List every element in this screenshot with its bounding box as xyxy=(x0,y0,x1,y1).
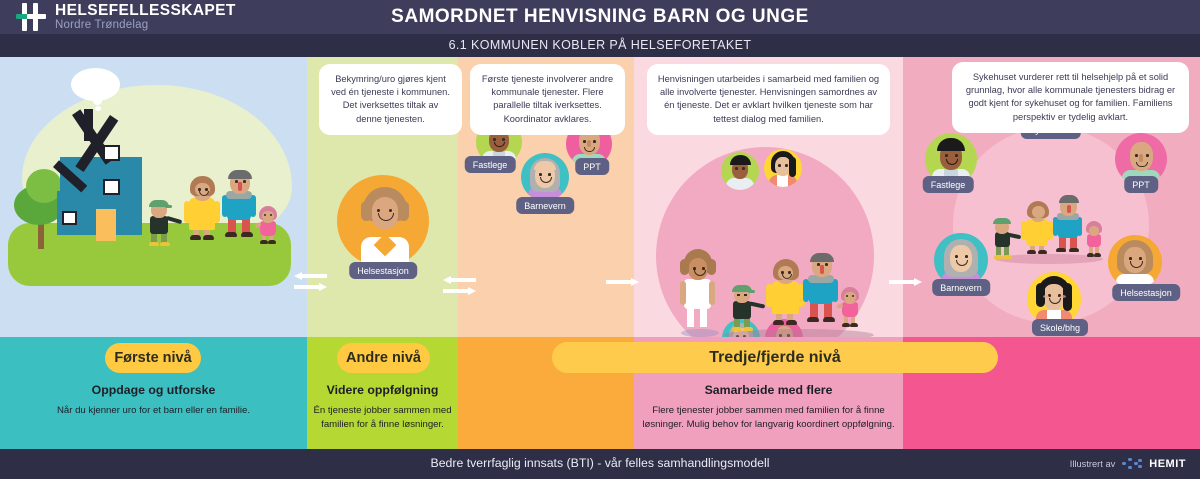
hospital-badge-helsestasjon: Helsestasjon xyxy=(1112,284,1180,301)
hospital-skole-avatar xyxy=(1027,272,1081,326)
credit-block: Illustrert av HEMIT xyxy=(1070,458,1186,470)
hospital-helsestasjon-avatar xyxy=(1108,235,1162,289)
house-window-annex xyxy=(62,211,77,225)
hospital-mother xyxy=(1021,199,1055,261)
smoke-puff-tiny xyxy=(95,106,101,111)
arrow-pair-2-3 xyxy=(443,272,476,298)
hospital-badge-fastlege: Fastlege xyxy=(923,176,974,193)
family-mother xyxy=(183,175,223,247)
hospital-badge-skole-bhg: Skole/bhg xyxy=(1032,319,1088,336)
level-1-heading: Oppdage og utforske xyxy=(8,383,299,397)
house-window-top xyxy=(103,145,120,161)
footer-text: Bedre tverrfaglig innsats (BTI) - vår fe… xyxy=(0,456,1200,470)
group-child-boy xyxy=(729,283,759,333)
level-2-heading: Videre oppfølgning xyxy=(312,383,453,397)
level-pill-1: Første nivå xyxy=(105,343,201,373)
callout-level3: Henvisningen utarbeides i samarbeid med … xyxy=(647,64,890,135)
callout-level2: Første tjeneste involverer andre kommuna… xyxy=(470,64,625,135)
ring-avatar-fastlege-face xyxy=(721,152,759,190)
hospital-child-boy xyxy=(991,217,1017,261)
panel-level1-illustration xyxy=(0,57,307,337)
coordinator-figure xyxy=(678,247,718,332)
hospital-badge-barnevern: Barnevern xyxy=(932,279,990,296)
level-1-body: Når du kjenner uro for et barn eller en … xyxy=(8,404,299,418)
page-title: SAMORDNET HENVISNING BARN OG UNGE xyxy=(0,6,1200,28)
house-door xyxy=(96,209,116,241)
arrow-pair-1-2 xyxy=(294,268,327,294)
badge-barnevern: Barnevern xyxy=(516,197,574,214)
infographic-page: HELSEFELLESSKAPET Nordre Trøndelag SAMOR… xyxy=(0,0,1200,479)
level-pill-3: Tredje/fjerde nivå xyxy=(552,342,998,373)
ring-avatar-skole-face xyxy=(764,149,802,187)
level-2-body: Én tjeneste jobber sammen med familien f… xyxy=(312,404,453,431)
barnevern-avatar xyxy=(521,153,569,201)
level-3-body: Flere tjenester jobber sammen med famili… xyxy=(640,404,897,431)
hemit-logo-icon xyxy=(1122,458,1142,470)
level-1-text: Oppdage og utforske Når du kjenner uro f… xyxy=(8,383,299,418)
group-child-girl xyxy=(837,285,864,331)
level-pill-2: Andre nivå xyxy=(337,343,430,373)
footer-bar: Bedre tverrfaglig innsats (BTI) - vår fe… xyxy=(0,449,1200,479)
house-window-middle xyxy=(103,179,120,195)
callout-hospital: Sykehuset vurderer rett til helsehjelp p… xyxy=(952,62,1189,133)
level-3-text: Samarbeide med flere Flere tjenester job… xyxy=(640,383,897,431)
badge-helsestasjon: Helsestasjon xyxy=(349,262,417,279)
credit-name: HEMIT xyxy=(1149,458,1186,470)
smoke-puff xyxy=(71,68,120,101)
badge-ppt: PPT xyxy=(575,158,609,175)
badge-fastlege: Fastlege xyxy=(465,156,516,173)
level-3-heading: Samarbeide med flere xyxy=(640,383,897,397)
helsestasjon-avatar xyxy=(359,185,411,271)
hospital-father xyxy=(1051,194,1087,261)
hospital-child-girl xyxy=(1083,220,1106,260)
arrow-4-5 xyxy=(889,274,922,289)
family-child-girl xyxy=(255,205,281,247)
level-2-text: Videre oppfølgning Én tjeneste jobber sa… xyxy=(312,383,453,431)
hospital-badge-ppt: PPT xyxy=(1124,176,1158,193)
page-subtitle: 6.1 KOMMUNEN KOBLER PÅ HELSEFORETAKET xyxy=(0,38,1200,52)
family-child-boy xyxy=(146,199,176,247)
callout-level1: Bekymring/uro gjøres kjent ved én tjenes… xyxy=(319,64,462,135)
credit-label: Illustrert av xyxy=(1070,459,1115,469)
smoke-puff-small xyxy=(93,97,102,105)
arrow-3-4 xyxy=(606,274,639,289)
